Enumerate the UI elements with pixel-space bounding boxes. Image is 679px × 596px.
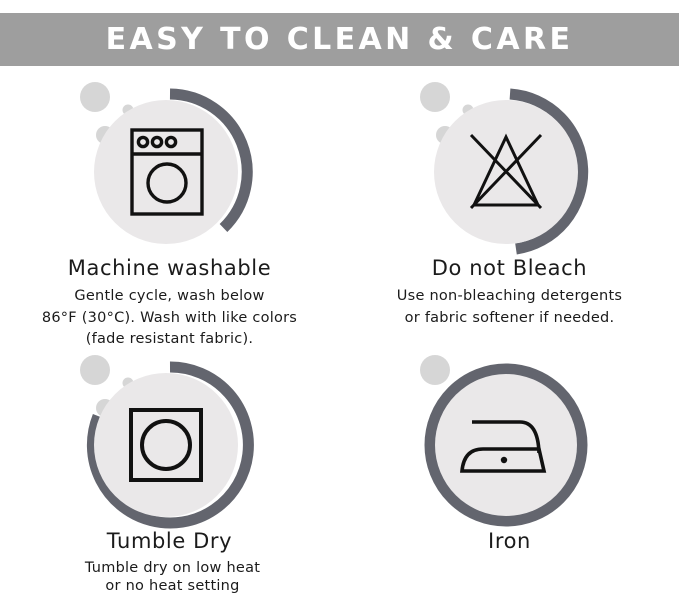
page-title: EASY TO CLEAN & CARE [106, 25, 574, 55]
iron-heat-dot-icon [500, 457, 506, 463]
badge-circle [435, 374, 577, 516]
badge-graphic [426, 88, 594, 256]
care-card-do-not-bleach: Do not Bleach Use non-bleaching detergen… [340, 66, 679, 329]
badge-graphic [86, 88, 254, 256]
label-block: Iron [340, 529, 679, 554]
care-title: Do not Bleach [340, 256, 679, 281]
badge-circle [94, 373, 238, 517]
care-body-line: 86°F (30°C). Wash with like colors [0, 308, 339, 330]
badge-do-not-bleach [340, 66, 679, 256]
care-card-tumble-dry: Tumble Dry Tumble dry on low heat or no … [0, 339, 339, 596]
care-body: Use non-bleaching detergents or fabric s… [340, 286, 679, 330]
badge-circle [94, 100, 238, 244]
badge-iron [340, 339, 679, 529]
care-title: Tumble Dry [0, 529, 339, 554]
badge-graphic [426, 361, 594, 529]
badge-graphic [86, 361, 254, 529]
care-body-line: or fabric softener if needed. [340, 308, 679, 330]
care-instruction-grid: Machine washable Gentle cycle, wash belo… [0, 66, 679, 593]
badge-tumble-dry [0, 339, 339, 529]
care-body-line: or no heat setting [6, 577, 339, 596]
badge-machine-washable [0, 66, 339, 256]
care-card-machine-washable: Machine washable Gentle cycle, wash belo… [0, 66, 339, 351]
label-block: Tumble Dry Tumble dry on low heat or no … [0, 529, 339, 596]
care-title: Machine washable [0, 256, 339, 281]
care-title: Iron [340, 529, 679, 554]
care-body-line: Use non-bleaching detergents [340, 286, 679, 308]
care-card-iron: Iron [340, 339, 679, 554]
care-body-line: Tumble dry on low heat [6, 559, 339, 578]
header-banner: EASY TO CLEAN & CARE [0, 13, 679, 66]
label-block: Do not Bleach Use non-bleaching detergen… [340, 256, 679, 329]
care-body: Tumble dry on low heat or no heat settin… [0, 559, 339, 596]
care-body-line: Gentle cycle, wash below [0, 286, 339, 308]
label-block: Machine washable Gentle cycle, wash belo… [0, 256, 339, 351]
